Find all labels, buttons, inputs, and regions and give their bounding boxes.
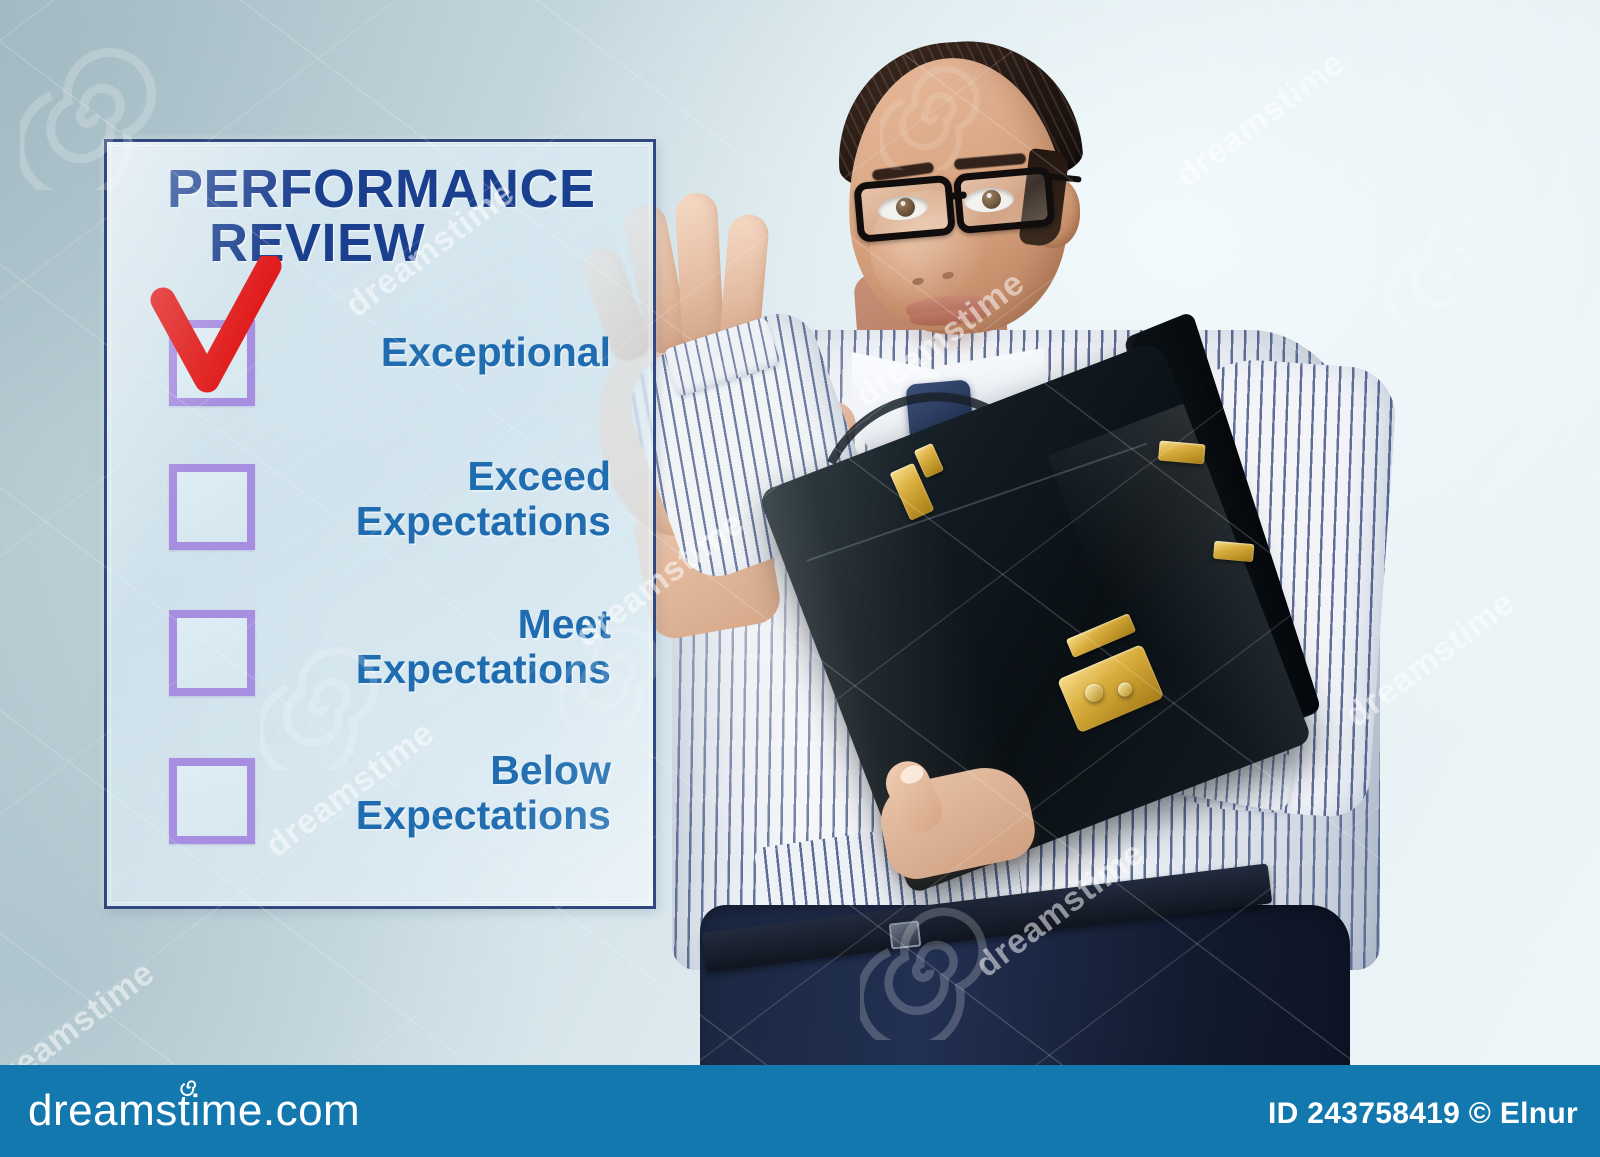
spiral-icon bbox=[179, 1075, 201, 1097]
glasses-bridge bbox=[950, 191, 967, 199]
chin-shadow bbox=[902, 330, 998, 356]
dreamstime-logo[interactable]: dreamstime.com bbox=[28, 1089, 360, 1133]
rating-label-exceptional: Exceptional bbox=[381, 330, 611, 375]
checkbox-exceed-expectations[interactable] bbox=[169, 464, 255, 550]
rating-label-exceed-expectations: Exceed Expectations bbox=[356, 454, 611, 544]
checkbox-meet-expectations[interactable] bbox=[169, 610, 255, 696]
rating-label-below-expectations: Below Expectations bbox=[356, 748, 611, 838]
screenshot-canvas: PERFORMANCE REVIEW Exceptional Exceed Ex… bbox=[0, 0, 1600, 1157]
checkbox-exceptional[interactable] bbox=[169, 320, 255, 406]
footer-bar: dreamstime.com ID 243758419 © Elnur bbox=[0, 1065, 1600, 1157]
rating-option-exceptional[interactable]: Exceptional bbox=[107, 298, 659, 446]
page-title-line-2: REVIEW bbox=[167, 216, 607, 270]
belt-buckle bbox=[889, 921, 922, 950]
page-title: PERFORMANCE REVIEW bbox=[167, 162, 607, 270]
lens-right bbox=[953, 166, 1056, 234]
businessman-subject bbox=[620, 0, 1420, 1065]
rating-option-exceed-expectations[interactable]: Exceed Expectations bbox=[107, 446, 659, 592]
rating-options-list: Exceptional Exceed Expectations Meet Exp… bbox=[107, 298, 659, 888]
checkbox-below-expectations[interactable] bbox=[169, 758, 255, 844]
rating-option-meet-expectations[interactable]: Meet Expectations bbox=[107, 592, 659, 740]
lens-left bbox=[853, 175, 956, 243]
image-id-credit: ID 243758419 © Elnur bbox=[1268, 1097, 1578, 1131]
briefcase-side-fitting-1 bbox=[1158, 441, 1206, 465]
rating-label-meet-expectations: Meet Expectations bbox=[356, 602, 611, 692]
performance-review-panel: PERFORMANCE REVIEW Exceptional Exceed Ex… bbox=[104, 139, 656, 909]
page-title-line-1: PERFORMANCE bbox=[167, 159, 596, 219]
finger-middle bbox=[675, 192, 725, 350]
rating-option-below-expectations[interactable]: Below Expectations bbox=[107, 740, 659, 888]
briefcase-side-fitting-2 bbox=[1213, 541, 1254, 562]
